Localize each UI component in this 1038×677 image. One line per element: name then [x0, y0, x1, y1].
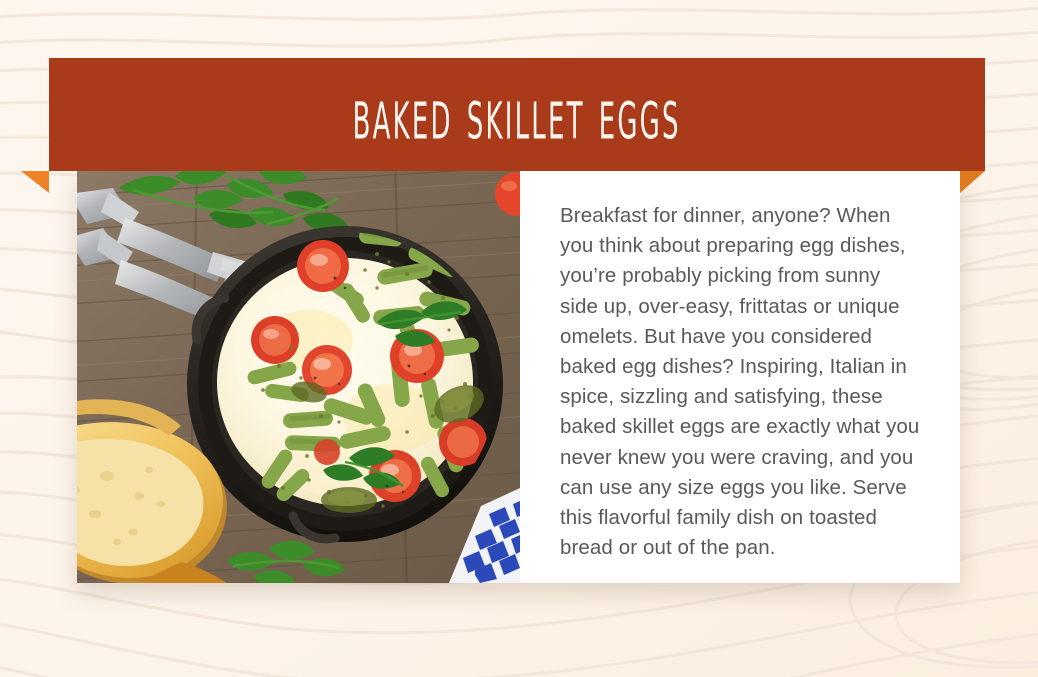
- recipe-card: Breakfast for dinner, anyone? When you t…: [77, 170, 960, 583]
- page-title: Baked Skillet Eggs: [353, 78, 681, 151]
- recipe-description: Breakfast for dinner, anyone? When you t…: [560, 201, 922, 563]
- title-banner: Baked Skillet Eggs: [49, 58, 985, 171]
- recipe-photo: [77, 170, 520, 583]
- recipe-description-pane: Breakfast for dinner, anyone? When you t…: [520, 170, 960, 583]
- ribbon-fold-right: [960, 171, 985, 193]
- ribbon-fold-left: [21, 171, 49, 193]
